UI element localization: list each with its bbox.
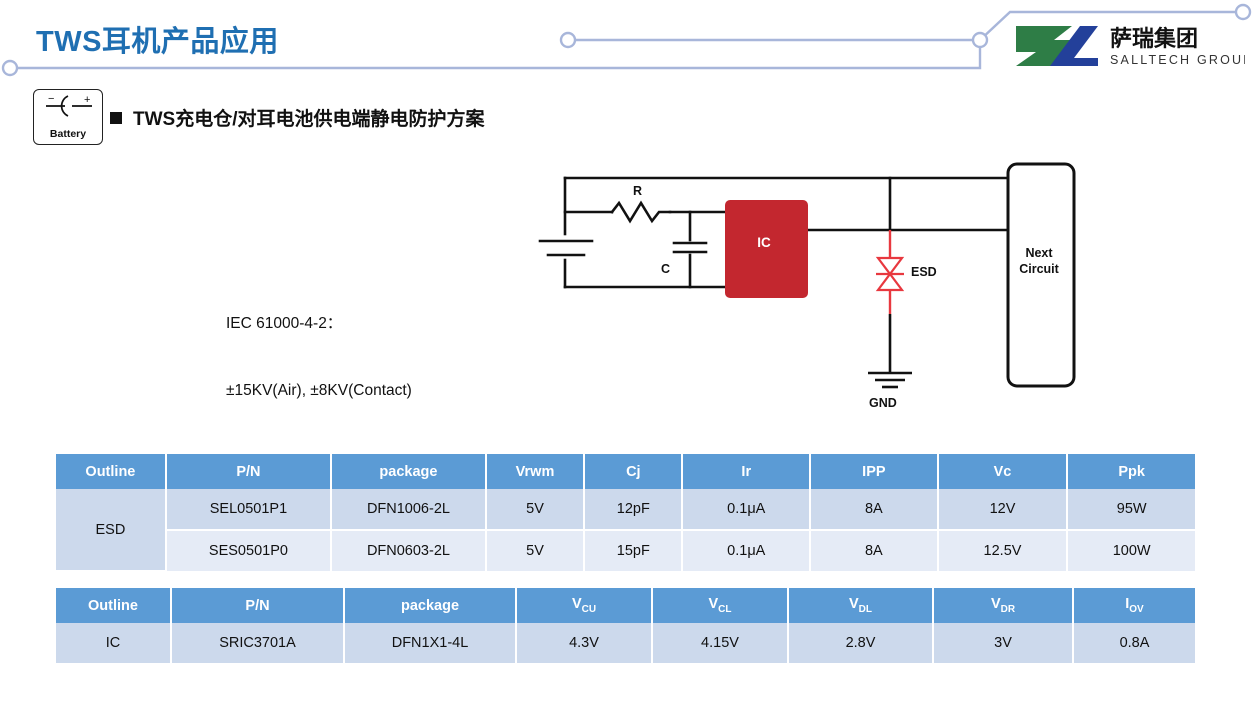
iec-note-line2: ±15KV(Air), ±8KV(Contact) (226, 380, 412, 402)
logo-en-text: SALLTECH GROUP (1110, 53, 1245, 67)
battery-icon: − + (34, 92, 104, 122)
col-iov: IOV (1073, 588, 1195, 623)
col-package: package (331, 454, 486, 489)
col-vrwm: Vrwm (486, 454, 584, 489)
cell-package: DFN0603-2L (331, 530, 486, 571)
col-vdr: VDR (933, 588, 1073, 623)
table-row: SES0501P0 DFN0603-2L 5V 15pF 0.1μA 8A 12… (56, 530, 1195, 571)
cell-package: DFN1006-2L (331, 489, 486, 530)
cell-ipp: 8A (810, 489, 938, 530)
cell-cj: 15pF (584, 530, 682, 571)
col-ir: Ir (682, 454, 810, 489)
deco-node-left (3, 61, 17, 75)
table-row: IC SRIC3701A DFN1X1-4L 4.3V 4.15V 2.8V 3… (56, 623, 1195, 663)
next-circuit-label: NextCircuit (1010, 246, 1068, 277)
col-vdl: VDL (788, 588, 933, 623)
page-title: TWS耳机产品应用 (36, 18, 279, 60)
cell-ir: 0.1μA (682, 489, 810, 530)
esd-diode-symbol (876, 230, 904, 314)
capacitor-label: C (661, 262, 670, 276)
logo-cn-text: 萨瑞集团 (1110, 26, 1198, 51)
col-vc: Vc (938, 454, 1068, 489)
col-pn: P/N (166, 454, 331, 489)
cell-vdr: 3V (933, 623, 1073, 663)
section-heading-text: TWS充电仓/对耳电池供电端静电防护方案 (133, 104, 485, 131)
deco-node-right (1236, 5, 1250, 19)
ic-parameter-table: Outline P/N package VCU VCL VDL VDR IOV … (56, 588, 1195, 663)
cell-vcl: 4.15V (652, 623, 788, 663)
cell-iov: 0.8A (1073, 623, 1195, 663)
brand-logo: 萨瑞集团 SALLTECH GROUP (1010, 20, 1245, 72)
svg-text:+: + (84, 94, 90, 106)
cell-vdl: 2.8V (788, 623, 933, 663)
iec-standard-note: IEC 61000-4-2： ±15KV(Air), ±8KV(Contact) (226, 268, 412, 425)
col-package: package (344, 588, 516, 623)
battery-icon-label: Battery (34, 128, 102, 140)
col-outline: Outline (56, 588, 171, 623)
cell-outline: IC (56, 623, 171, 663)
deco-node-corner (973, 33, 987, 47)
cell-outline-esd: ESD (56, 489, 166, 571)
cell-vc: 12V (938, 489, 1068, 530)
table-header-row: Outline P/N package Vrwm Cj Ir IPP Vc Pp… (56, 454, 1195, 489)
cell-ir: 0.1μA (682, 530, 810, 571)
cell-pn: SES0501P0 (166, 530, 331, 571)
square-bullet-icon (110, 112, 122, 124)
cell-ipp: 8A (810, 530, 938, 571)
cell-vrwm: 5V (486, 530, 584, 571)
cell-ppk: 95W (1067, 489, 1195, 530)
table-header-row: Outline P/N package VCU VCL VDL VDR IOV (56, 588, 1195, 623)
deco-node-mid (561, 33, 575, 47)
gnd-label: GND (869, 396, 897, 410)
cell-pn: SEL0501P1 (166, 489, 331, 530)
ic-block-label: IC (724, 235, 804, 250)
col-vcu: VCU (516, 588, 652, 623)
cell-vcu: 4.3V (516, 623, 652, 663)
svg-text:−: − (48, 93, 54, 105)
esd-parameter-table: Outline P/N package Vrwm Cj Ir IPP Vc Pp… (56, 454, 1195, 572)
cell-cj: 12pF (584, 489, 682, 530)
logo-mark (1016, 26, 1098, 66)
cell-vc: 12.5V (938, 530, 1068, 571)
wire-top-rail (565, 178, 890, 230)
col-outline: Outline (56, 454, 166, 489)
table-row: ESD SEL0501P1 DFN1006-2L 5V 12pF 0.1μA 8… (56, 489, 1195, 530)
iec-note-line1: IEC 61000-4-2： (226, 313, 412, 335)
esd-label: ESD (911, 265, 937, 279)
col-cj: Cj (584, 454, 682, 489)
section-heading: TWS充电仓/对耳电池供电端静电防护方案 (110, 104, 485, 131)
col-ppk: Ppk (1067, 454, 1195, 489)
ground-symbol (868, 314, 912, 387)
cell-ppk: 100W (1067, 530, 1195, 571)
cell-pn: SRIC3701A (171, 623, 344, 663)
cell-vrwm: 5V (486, 489, 584, 530)
battery-icon-card: − + Battery (33, 89, 103, 145)
resistor-zigzag (612, 203, 670, 221)
col-vcl: VCL (652, 588, 788, 623)
col-pn: P/N (171, 588, 344, 623)
resistor-label: R (633, 184, 642, 198)
cell-package: DFN1X1-4L (344, 623, 516, 663)
col-ipp: IPP (810, 454, 938, 489)
